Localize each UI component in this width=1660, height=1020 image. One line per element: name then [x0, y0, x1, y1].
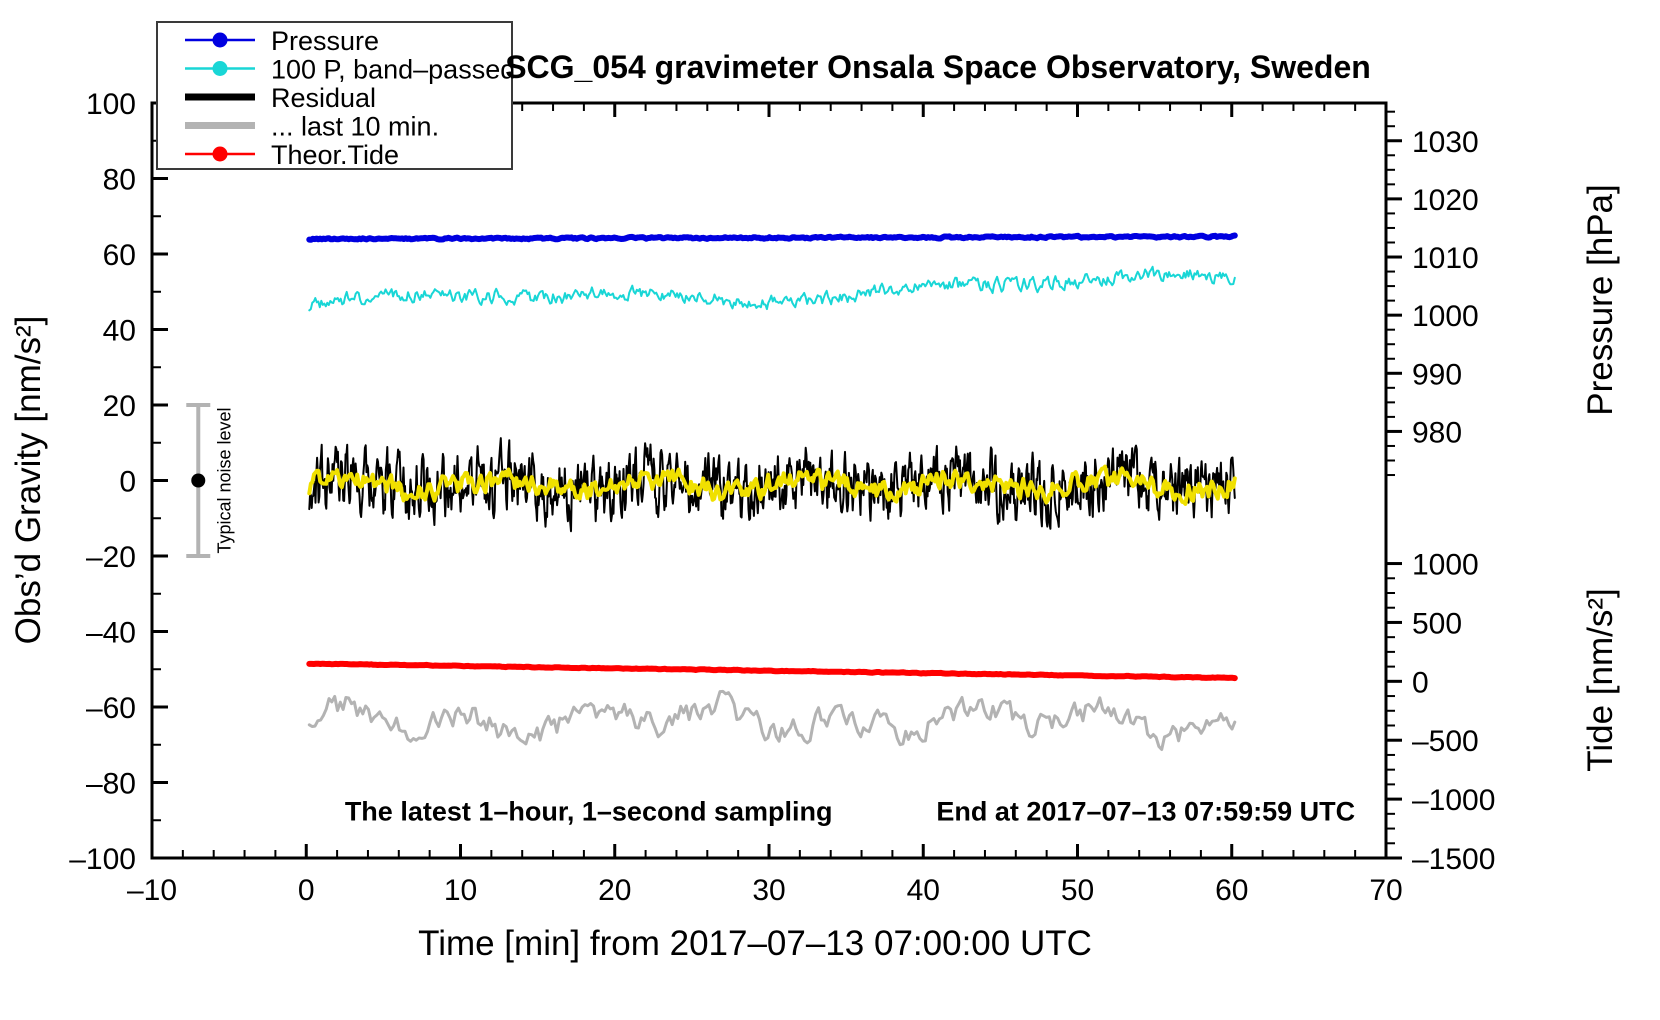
- end-time-note: End at 2017–07–13 07:59:59 UTC: [936, 796, 1355, 826]
- legend-label: Theor.Tide: [271, 140, 399, 170]
- y-tick-label: –40: [86, 617, 136, 650]
- x-tick-label: 20: [598, 874, 631, 907]
- tide-tick-label: 500: [1412, 607, 1462, 640]
- tide-tick-label: –500: [1412, 725, 1479, 758]
- gravimeter-chart: –10010203040506070 –100–80–60–40–2002040…: [0, 0, 1660, 1020]
- x-axis-title: Time [min] from 2017–07–13 07:00:00 UTC: [418, 924, 1092, 963]
- legend-label: ... last 10 min.: [271, 112, 439, 142]
- chart-page: –10010203040506070 –100–80–60–40–2002040…: [0, 0, 1660, 1020]
- noise-center-dot: [191, 474, 205, 488]
- pressure-axis-title: Pressure [hPa]: [1581, 184, 1620, 416]
- pressure-tick-label: 1020: [1412, 184, 1479, 217]
- y-axis-title: Obs’d Gravity [nm/s²]: [9, 316, 48, 645]
- y-tick-label: 20: [103, 390, 136, 423]
- x-tick-label: 50: [1061, 874, 1094, 907]
- tide-tick-label: 0: [1412, 666, 1429, 699]
- legend-marker-dot: [213, 147, 228, 162]
- tide-tick-label: –1000: [1412, 784, 1495, 817]
- tide-tick-label: 1000: [1412, 549, 1479, 582]
- y-tick-label: 100: [86, 88, 136, 121]
- sampling-note: The latest 1–hour, 1–second sampling: [345, 796, 833, 826]
- y-tick-label: 0: [119, 466, 136, 499]
- legend-marker-dot: [213, 33, 228, 48]
- x-tick-label: 40: [907, 874, 940, 907]
- legend-label: 100 P, band–passed: [271, 55, 515, 85]
- y-tick-label: 60: [103, 239, 136, 272]
- x-tick-label: 60: [1215, 874, 1248, 907]
- y-tick-label: –60: [86, 692, 136, 725]
- legend[interactable]: Pressure100 P, band–passedResidual... la…: [157, 22, 515, 170]
- legend-label: Residual: [271, 83, 376, 113]
- pressure-tick-label: 1000: [1412, 300, 1479, 333]
- legend-marker-dot: [213, 61, 228, 76]
- tide-tick-label: –1500: [1412, 843, 1495, 876]
- y-tick-label: 40: [103, 315, 136, 348]
- y-tick-label: –100: [69, 843, 136, 876]
- chart-title: SCG_054 gravimeter Onsala Space Observat…: [505, 49, 1371, 85]
- pressure-tick-label: 1030: [1412, 126, 1479, 159]
- noise-level-label: Typical noise level: [214, 407, 234, 553]
- x-tick-label: 10: [444, 874, 477, 907]
- pressure-tick-label: 1010: [1412, 242, 1479, 275]
- x-tick-label: 30: [752, 874, 785, 907]
- pressure-tick-label: 980: [1412, 416, 1462, 449]
- pressure-tick-label: 990: [1412, 358, 1462, 391]
- tide-axis-title: Tide [nm/s²]: [1581, 588, 1620, 771]
- y-tick-label: –20: [86, 541, 136, 574]
- x-tick-label: 0: [298, 874, 315, 907]
- x-tick-label: –10: [127, 874, 177, 907]
- legend-label: Pressure: [271, 26, 379, 56]
- trace-pressure: [309, 236, 1235, 240]
- y-tick-label: 80: [103, 164, 136, 197]
- x-tick-label: 70: [1369, 874, 1402, 907]
- y-tick-label: –80: [86, 768, 136, 801]
